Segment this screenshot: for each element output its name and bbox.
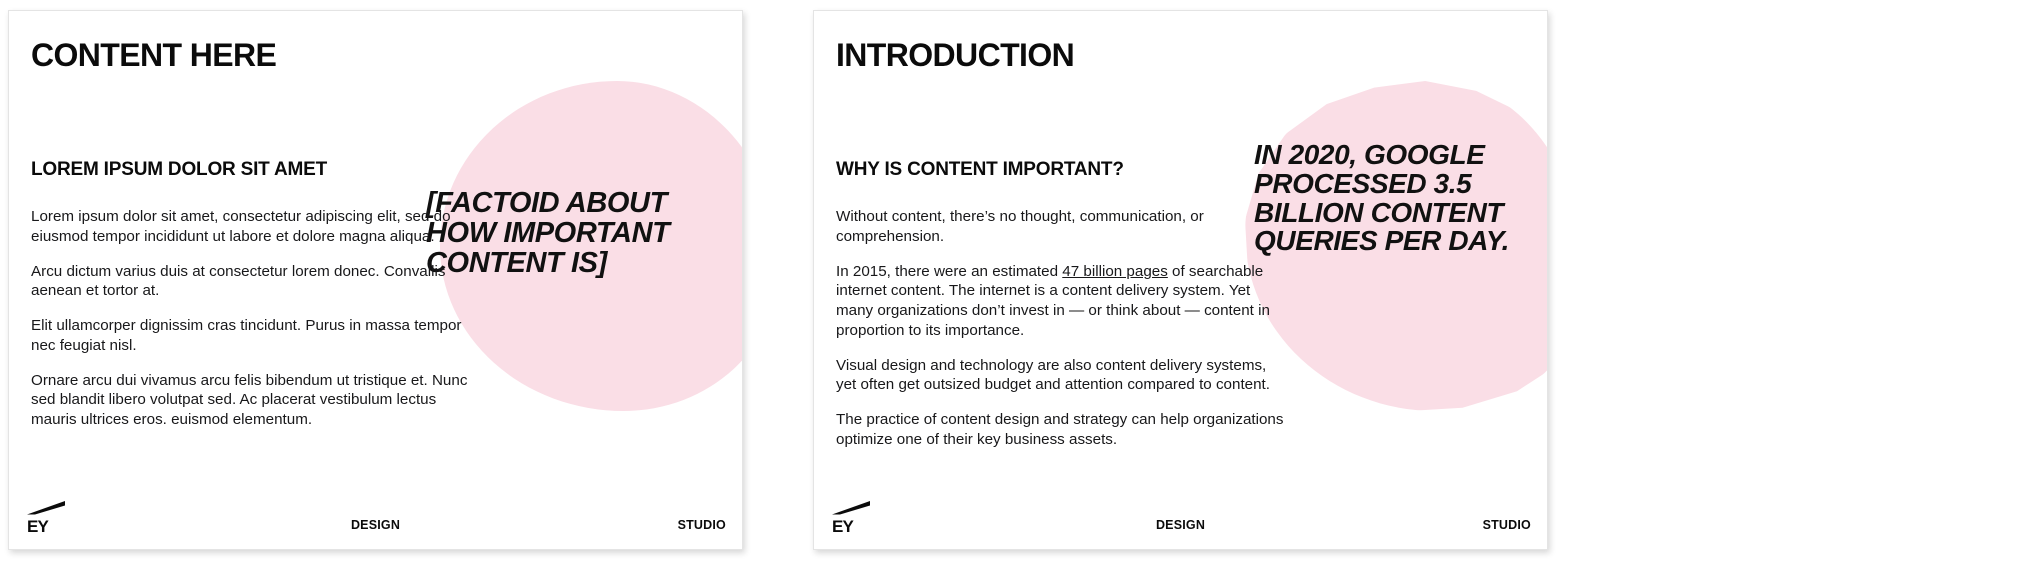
ey-logo: EY	[828, 499, 882, 535]
ey-logo-wordmark: EY	[27, 518, 48, 535]
body-paragraph: Ornare arcu dui vivamus arcu felis biben…	[31, 371, 483, 430]
ey-logo-wordmark: EY	[832, 518, 853, 535]
body-paragraph: Visual design and technology are also co…	[836, 356, 1288, 396]
ey-beam-icon	[832, 501, 872, 515]
slide-thumbnail-deck: [FACTOID ABOUT HOW IMPORTANT CONTENT IS]…	[0, 0, 2039, 567]
billion-pages-link[interactable]: 47 billion pages	[1062, 263, 1168, 280]
slide-subtitle: LOREM IPSUM DOLOR SIT AMET	[31, 159, 327, 181]
body-paragraph: Lorem ipsum dolor sit amet, consectetur …	[31, 207, 483, 247]
ey-beam-icon	[27, 501, 67, 515]
blob-factoid-text: IN 2020, GOOGLE PROCESSED 3.5 BILLION CO…	[1254, 141, 1519, 256]
slide-body-copy: Lorem ipsum dolor sit amet, consectetur …	[31, 207, 483, 430]
slide-thumbnail-content-here[interactable]: [FACTOID ABOUT HOW IMPORTANT CONTENT IS]…	[8, 10, 743, 550]
slide-thumbnail-introduction[interactable]: IN 2020, GOOGLE PROCESSED 3.5 BILLION CO…	[813, 10, 1548, 550]
footer-label-studio: STUDIO	[678, 518, 726, 532]
body-paragraph: Elit ullamcorper dignissim cras tincidun…	[31, 316, 483, 356]
body-paragraph: The practice of content design and strat…	[836, 410, 1288, 450]
slide-subtitle: WHY IS CONTENT IMPORTANT?	[836, 159, 1124, 181]
link-text-before: In 2015, there were an estimated	[836, 263, 1062, 280]
footer-label-design: DESIGN	[351, 518, 400, 532]
body-paragraph-with-link: In 2015, there were an estimated 47 bill…	[836, 262, 1288, 341]
footer-label-studio: STUDIO	[1483, 518, 1531, 532]
slide-footer: EY DESIGN STUDIO	[9, 495, 742, 535]
body-paragraph: Without content, there’s no thought, com…	[836, 207, 1288, 247]
body-paragraph: Arcu dictum varius duis at consectetur l…	[31, 262, 483, 302]
ey-logo: EY	[23, 499, 77, 535]
slide-title: CONTENT HERE	[31, 37, 276, 74]
slide-title: INTRODUCTION	[836, 37, 1074, 74]
footer-label-design: DESIGN	[1156, 518, 1205, 532]
slide-body-copy: Without content, there’s no thought, com…	[836, 207, 1288, 450]
slide-footer: EY DESIGN STUDIO	[814, 495, 1547, 535]
